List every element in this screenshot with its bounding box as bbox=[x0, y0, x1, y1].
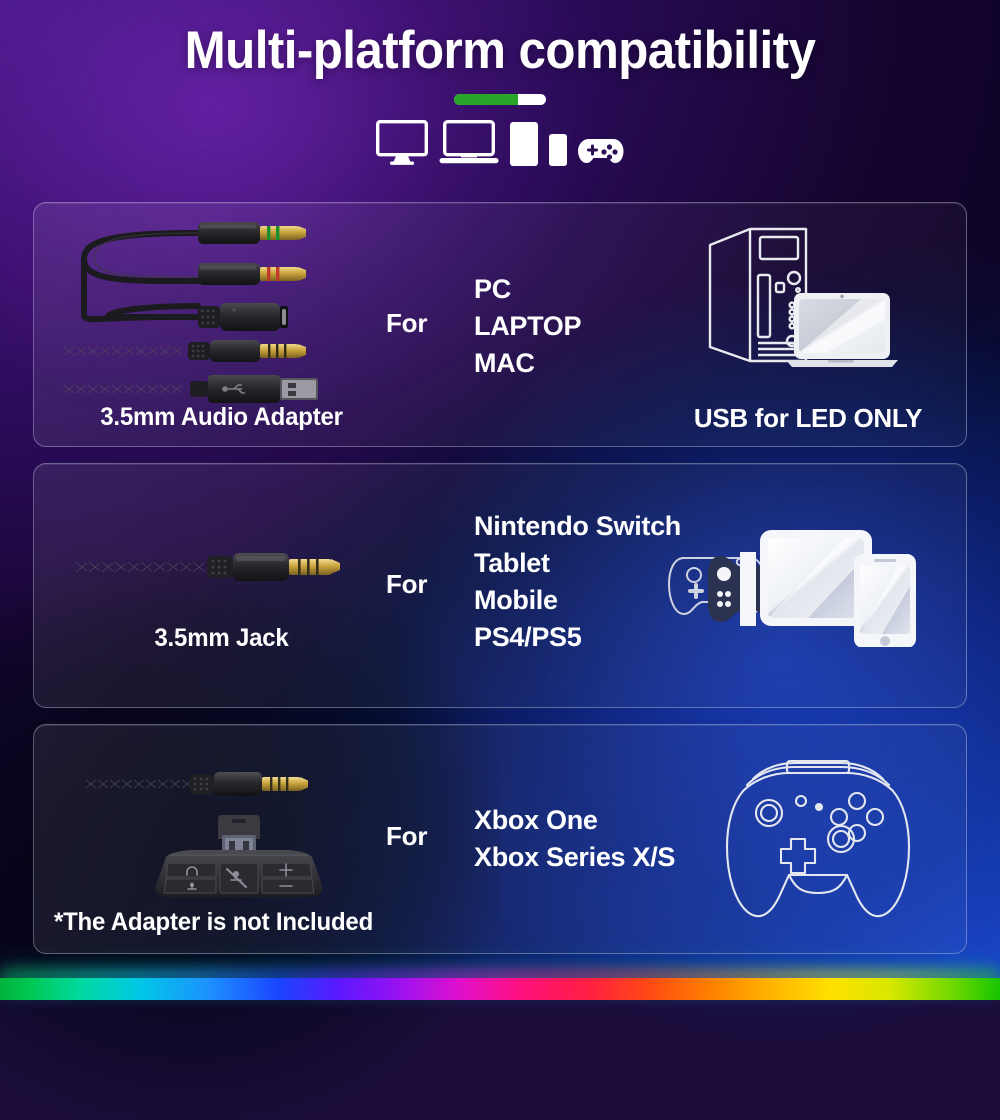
spec-item: LAPTOP bbox=[474, 308, 581, 345]
product-image-audio-adapter: 3.5mm Audio Adapter bbox=[34, 203, 409, 446]
braided-3-5mm-jack-icon bbox=[76, 763, 326, 805]
divider-bar bbox=[454, 94, 546, 105]
compatibility-panel-switch: 3.5mm Jack For Nintendo Switch Tablet Mo… bbox=[33, 463, 967, 708]
rgb-light-strip bbox=[0, 978, 1000, 1000]
audio-splitter-adapter-icon bbox=[48, 211, 378, 406]
illustration-xbox-controller bbox=[678, 725, 958, 953]
spec-item: Xbox Series X/S bbox=[474, 839, 675, 876]
page-title: Multi-platform compatibility bbox=[35, 22, 965, 80]
illustration-pc-laptop: USB for LED ONLY bbox=[658, 203, 958, 446]
monitor-icon bbox=[376, 120, 428, 166]
braided-3-5mm-jack-icon bbox=[64, 542, 364, 592]
product-caption: 3.5mm Audio Adapter bbox=[42, 403, 402, 432]
gamepad-icon bbox=[578, 136, 624, 166]
header: Multi-platform compatibility bbox=[0, 0, 1000, 166]
product-caption: 3.5mm Jack bbox=[42, 624, 402, 653]
product-image-xbox-adapter: *The Adapter is not Included bbox=[34, 725, 409, 953]
device-icon-row bbox=[0, 120, 1000, 166]
phone-icon bbox=[854, 554, 916, 647]
spec-list: PC LAPTOP MAC bbox=[474, 271, 581, 382]
for-label: For bbox=[386, 308, 427, 339]
spec-list: Xbox One Xbox Series X/S bbox=[474, 802, 675, 876]
compatibility-panel-xbox: *The Adapter is not Included For Xbox On… bbox=[33, 724, 967, 954]
product-image-3-5mm-jack: 3.5mm Jack bbox=[34, 464, 409, 707]
xbox-stereo-headset-adapter-icon bbox=[144, 813, 334, 908]
tablet-icon bbox=[510, 122, 538, 166]
for-label: For bbox=[386, 821, 427, 852]
spec-item: MAC bbox=[474, 345, 581, 382]
spec-item: Xbox One bbox=[474, 802, 675, 839]
divider-bar-fill bbox=[454, 94, 518, 105]
laptop-icon bbox=[439, 120, 499, 166]
phone-icon bbox=[549, 134, 567, 166]
compatibility-panel-pc: 3.5mm Audio Adapter For PC LAPTOP MAC bbox=[33, 202, 967, 447]
for-label: For bbox=[386, 569, 427, 600]
product-caption: *The Adapter is not Included bbox=[34, 908, 394, 937]
desktop-pc-icon bbox=[688, 223, 918, 383]
spec-item: PC bbox=[474, 271, 581, 308]
illustration-switch-tablet-phone bbox=[648, 464, 958, 707]
illustration-caption: USB for LED ONLY bbox=[658, 403, 958, 434]
xbox-controller-icon bbox=[723, 757, 913, 922]
